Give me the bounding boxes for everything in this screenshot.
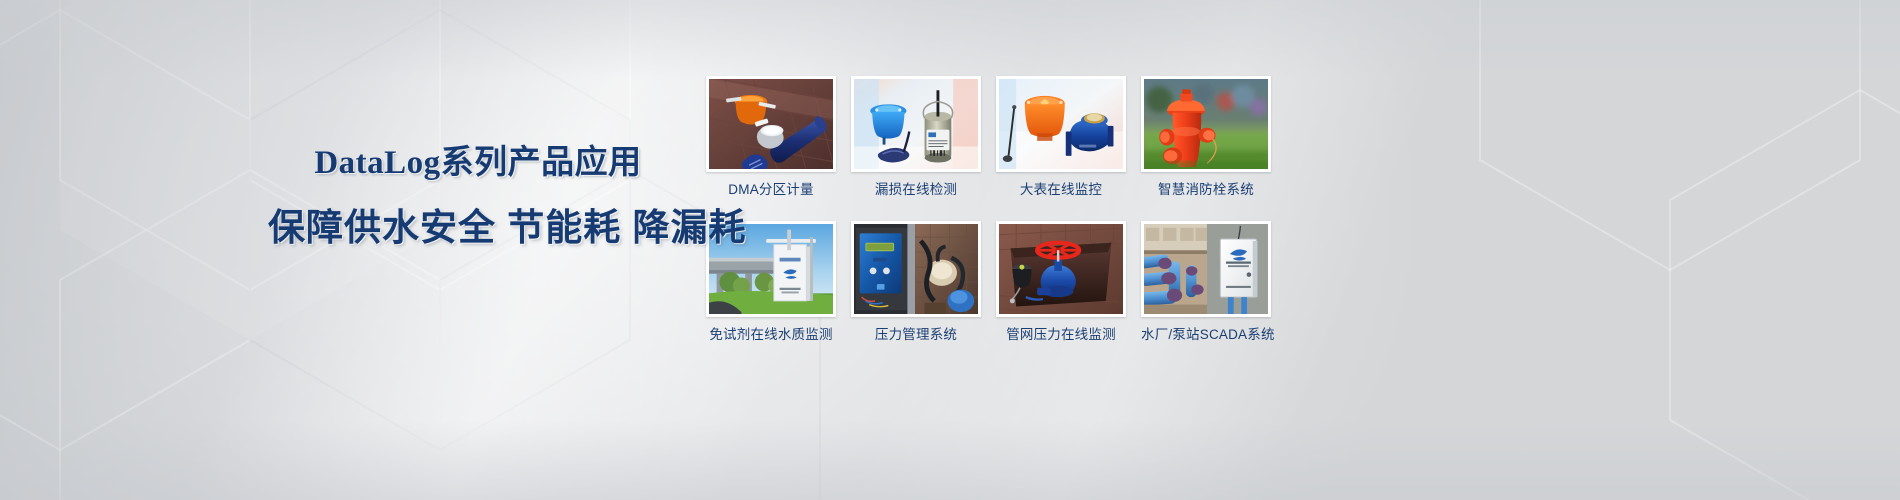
- card-caption: 管网压力在线监测: [996, 326, 1126, 344]
- card-caption: 智慧消防栓系统: [1141, 181, 1271, 199]
- smart-hydrant-photo: [1144, 79, 1268, 169]
- card-photo-frame: [1141, 76, 1271, 172]
- card-caption: 免试剂在线水质监测: [706, 326, 836, 344]
- dma-metering-photo: [709, 79, 833, 169]
- application-card[interactable]: 漏损在线检测: [851, 76, 981, 199]
- card-photo-frame: [996, 221, 1126, 317]
- product-application-banner: DataLog系列产品应用 保障供水安全 节能耗 降漏耗: [0, 0, 1900, 500]
- application-card-grid: DMA分区计量: [706, 76, 1286, 344]
- headline-line-1: DataLog系列产品应用: [268, 142, 688, 184]
- card-caption: 水厂/泵站SCADA系统: [1141, 326, 1271, 344]
- application-card[interactable]: 大表在线监控: [996, 76, 1126, 199]
- card-photo-frame: [851, 76, 981, 172]
- pipeline-pressure-photo: [999, 224, 1123, 314]
- card-photo-frame: [706, 76, 836, 172]
- card-photo-frame: [1141, 221, 1271, 317]
- scada-system-photo: [1144, 224, 1268, 314]
- application-card[interactable]: 管网压力在线监测: [996, 221, 1126, 344]
- headline-block: DataLog系列产品应用 保障供水安全 节能耗 降漏耗: [268, 142, 688, 251]
- application-card[interactable]: DMA分区计量: [706, 76, 836, 199]
- large-meter-monitoring-photo: [999, 79, 1123, 169]
- application-card[interactable]: 水厂/泵站SCADA系统: [1141, 221, 1271, 344]
- card-caption: DMA分区计量: [706, 181, 836, 199]
- card-caption: 大表在线监控: [996, 181, 1126, 199]
- pressure-management-photo: [854, 224, 978, 314]
- headline-line-2: 保障供水安全 节能耗 降漏耗: [268, 205, 688, 251]
- card-photo-frame: [996, 76, 1126, 172]
- application-card[interactable]: 压力管理系统: [851, 221, 981, 344]
- card-caption: 漏损在线检测: [851, 181, 981, 199]
- application-card[interactable]: 智慧消防栓系统: [1141, 76, 1271, 199]
- card-photo-frame: [851, 221, 981, 317]
- leakage-detection-photo: [854, 79, 978, 169]
- card-caption: 压力管理系统: [851, 326, 981, 344]
